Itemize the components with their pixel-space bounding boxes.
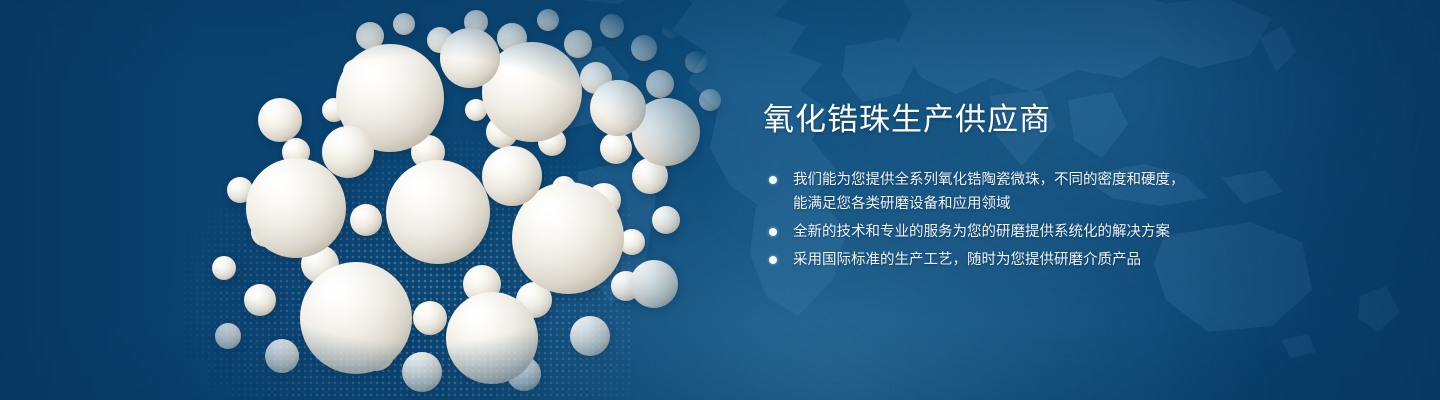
bullet-item-1: 我们能为您提供全系列氧化锆陶瓷微珠，不同的密度和硬度， 能满足您各类研磨设备和应…	[763, 168, 1323, 216]
bullet-1-line-1: 我们能为您提供全系列氧化锆陶瓷微珠，不同的密度和硬度，	[793, 172, 1185, 188]
banner-headline: 氧化锆珠生产供应商	[763, 100, 1323, 140]
bullet-3-line-1: 采用国际标准的生产工艺，随时为您提供研磨介质产品	[793, 252, 1141, 268]
bullet-dot-icon	[769, 256, 777, 264]
banner-copy: 氧化锆珠生产供应商 我们能为您提供全系列氧化锆陶瓷微珠，不同的密度和硬度， 能满…	[763, 100, 1323, 272]
bullet-item-3: 采用国际标准的生产工艺，随时为您提供研磨介质产品	[763, 248, 1323, 272]
banner-bullet-list: 我们能为您提供全系列氧化锆陶瓷微珠，不同的密度和硬度， 能满足您各类研磨设备和应…	[763, 168, 1323, 272]
zirconia-beads-image	[120, 0, 760, 400]
bullet-dot-icon	[769, 228, 777, 236]
bullet-item-2: 全新的技术和专业的服务为您的研磨提供系统化的解决方案	[763, 220, 1323, 244]
bullet-1-line-2: 能满足您各类研磨设备和应用领域	[793, 192, 1323, 216]
hero-banner: 氧化锆珠生产供应商 我们能为您提供全系列氧化锆陶瓷微珠，不同的密度和硬度， 能满…	[0, 0, 1440, 400]
bullet-2-line-1: 全新的技术和专业的服务为您的研磨提供系统化的解决方案	[793, 224, 1170, 240]
bullet-dot-icon	[769, 176, 777, 184]
